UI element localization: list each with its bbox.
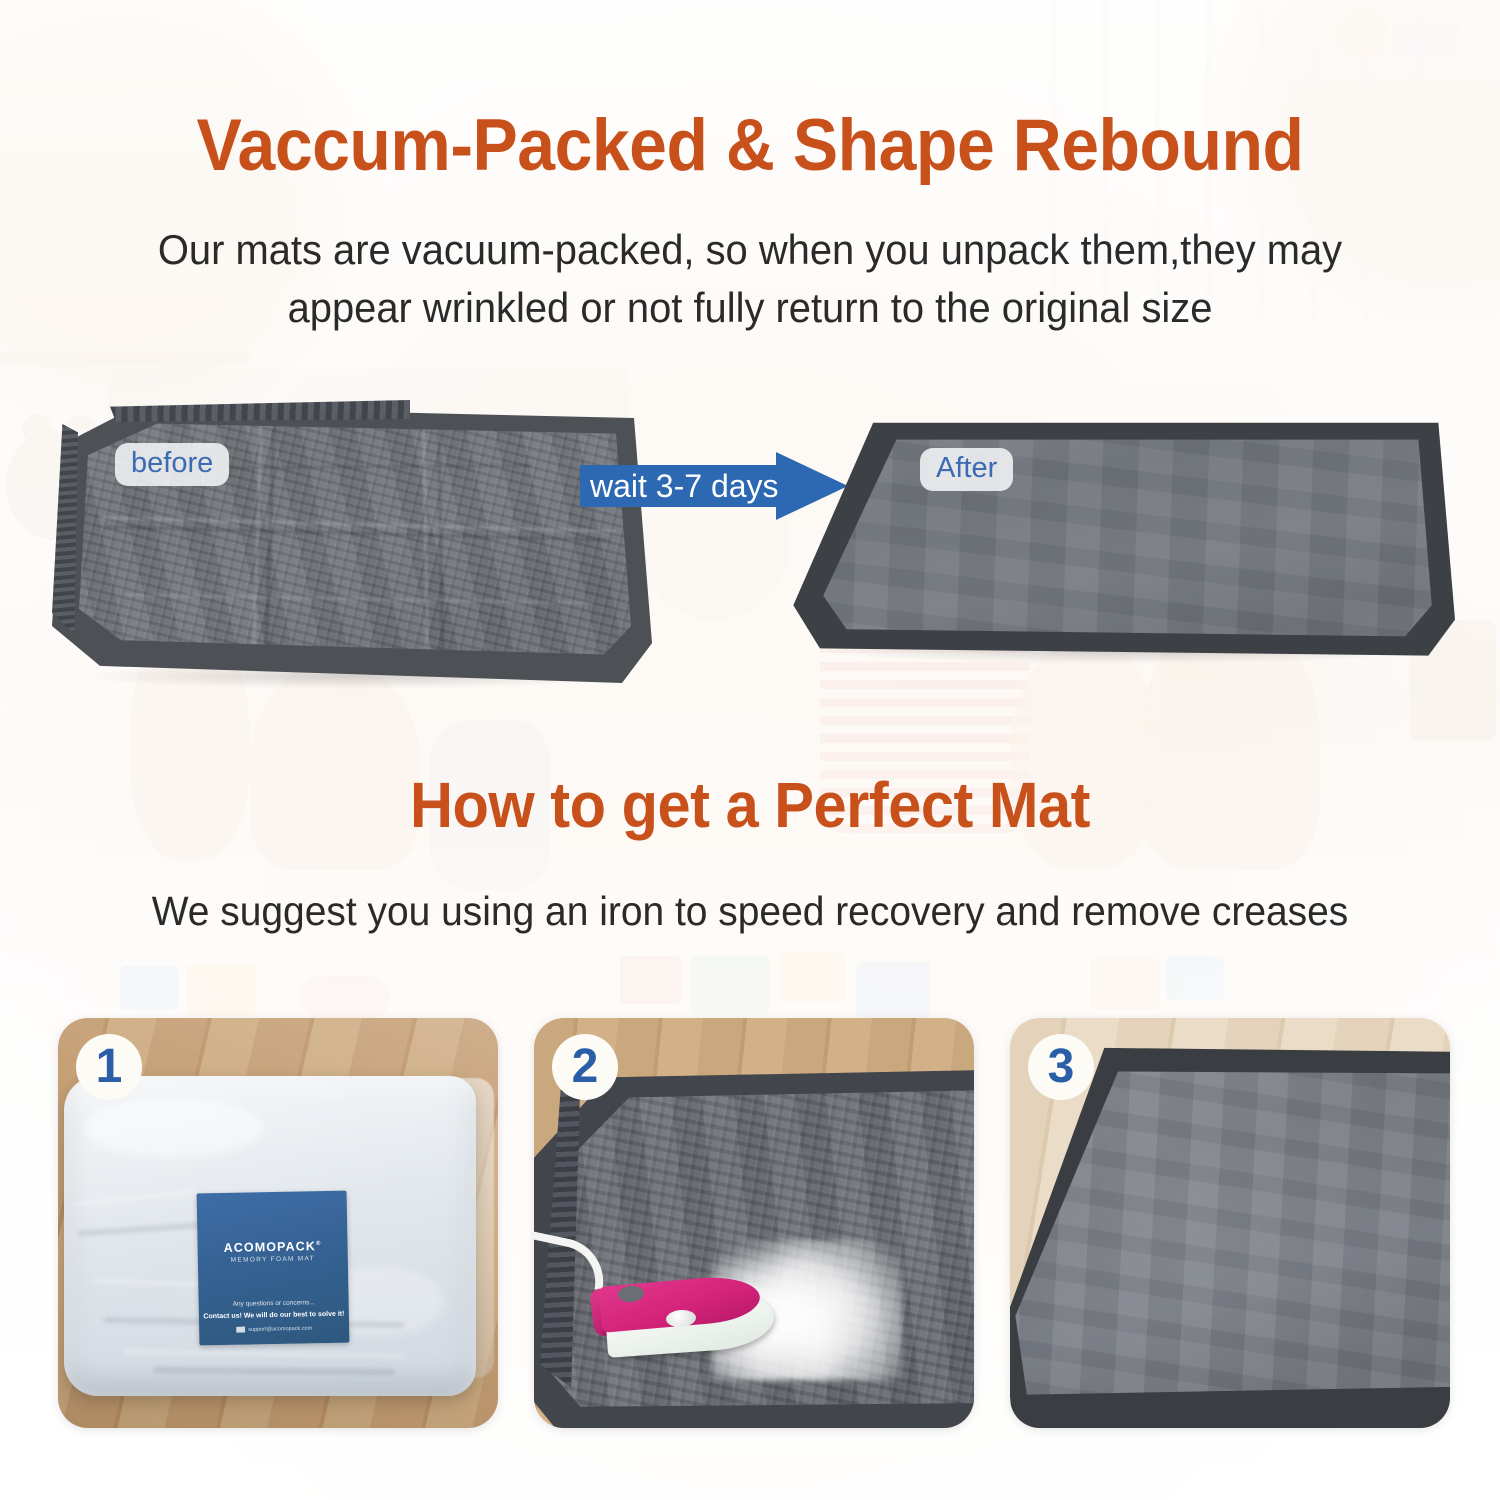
mat-after-image bbox=[790, 418, 1455, 658]
steam-iron-icon bbox=[592, 1264, 782, 1356]
before-label-pill: before bbox=[115, 443, 229, 486]
mat-ruffled-edge bbox=[52, 424, 78, 634]
label-contact-line: Contact us! We will do our best to solve… bbox=[199, 1311, 349, 1321]
step-badge-3: 3 bbox=[1028, 1034, 1094, 1100]
subtitle-rebound-line2: appear wrinkled or not fully return to t… bbox=[38, 280, 1463, 336]
subtitle-howto: We suggest you using an iron to speed re… bbox=[38, 884, 1463, 939]
subtitle-rebound-line1: Our mats are vacuum-packed, so when you … bbox=[38, 222, 1463, 278]
mat-ruffled-edge bbox=[110, 400, 410, 422]
mat-before-image bbox=[52, 398, 652, 683]
mat-surface-smooth bbox=[790, 418, 1455, 658]
page-title-howto: How to get a Perfect Mat bbox=[53, 768, 1448, 842]
envelope-icon bbox=[236, 1327, 245, 1333]
support-email: support@acomopack.com bbox=[248, 1326, 312, 1333]
after-label-pill: After bbox=[920, 448, 1013, 491]
product-label: ACOMOPACK® MEMORY FOAM MAT Any questions… bbox=[197, 1191, 350, 1346]
watermark bbox=[1170, 1418, 1470, 1488]
page-title-rebound: Vaccum-Packed & Shape Rebound bbox=[53, 104, 1448, 187]
step-badge-2: 2 bbox=[552, 1034, 618, 1100]
arrow-label: wait 3-7 days bbox=[590, 466, 790, 506]
step-panel-3: 3 bbox=[1010, 1018, 1450, 1428]
label-email-row: support@acomopack.com bbox=[199, 1325, 349, 1334]
vacuum-packed-bag: ACOMOPACK® MEMORY FOAM MAT Any questions… bbox=[64, 1076, 476, 1396]
product-name: MEMORY FOAM MAT bbox=[198, 1255, 348, 1265]
step-panel-1: ACOMOPACK® MEMORY FOAM MAT Any questions… bbox=[58, 1018, 498, 1428]
brand-name: ACOMOPACK® bbox=[197, 1239, 347, 1256]
step-panel-2: 2 bbox=[534, 1018, 974, 1428]
label-question-line: Any questions or concerns... bbox=[199, 1299, 349, 1309]
step-badge-1: 1 bbox=[76, 1034, 142, 1100]
mat-surface-wrinkled bbox=[52, 398, 652, 683]
